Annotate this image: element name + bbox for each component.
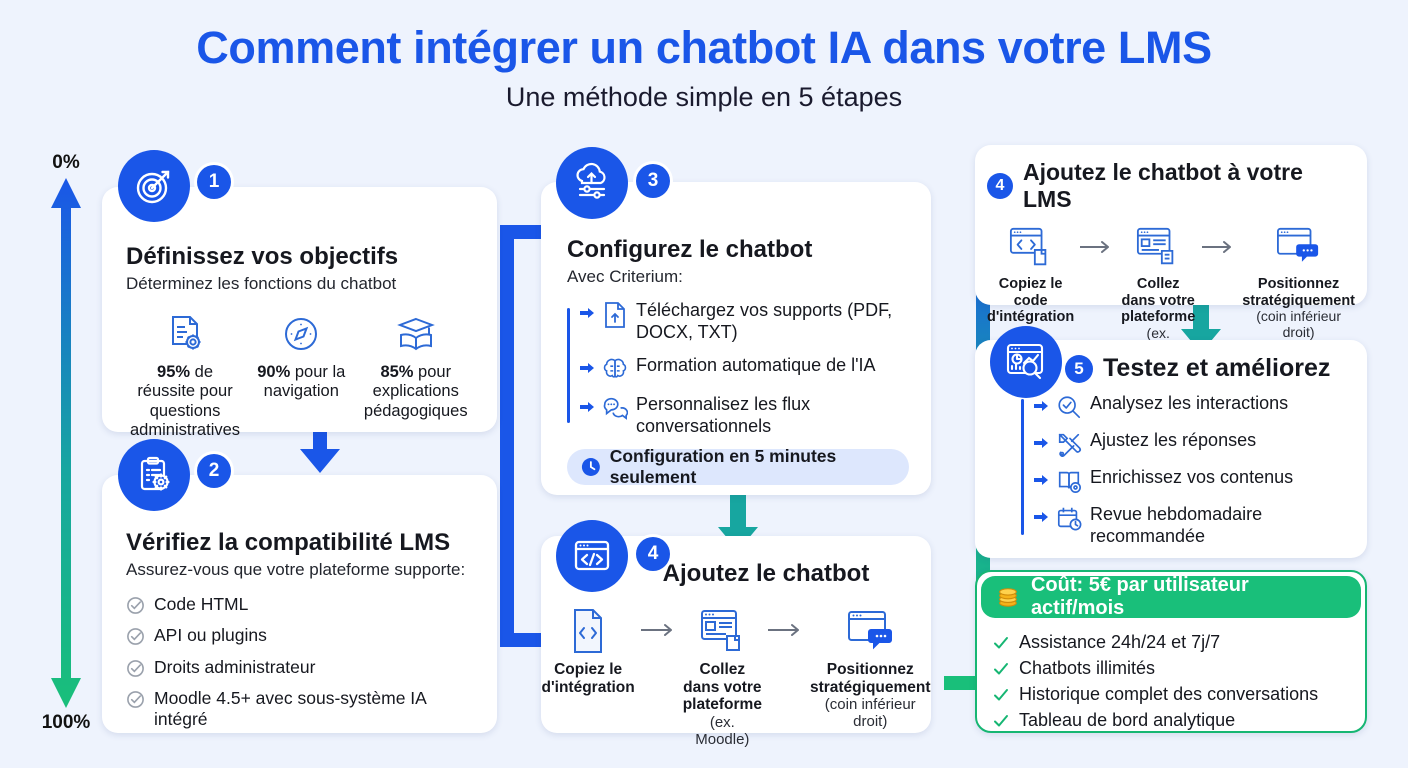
step-item: Positionnez stratégiquement (coin inféri…	[1242, 223, 1355, 341]
arrow-right-icon	[580, 307, 594, 319]
check-circle-icon	[126, 690, 145, 709]
step4-bottom-steps: Copiez le d'intégration	[559, 604, 913, 748]
step3-subtitle: Avec Criterium:	[567, 267, 909, 287]
arrow-right-icon	[762, 604, 810, 656]
list-item-label: Ajustez les réponses	[1090, 430, 1256, 452]
step3-number-badge: 3	[636, 164, 670, 198]
axis-label-bottom: 100%	[36, 712, 96, 734]
list-item: Personnalisez les flux conversationnels	[580, 394, 909, 437]
stat-item: 95% de réussite pour questions administr…	[126, 310, 244, 441]
page-title: Comment intégrer un chatbot IA dans votr…	[0, 22, 1408, 74]
step2-checklist: Code HTML API ou plugins Droits administ…	[126, 594, 473, 731]
step1-number-badge: 1	[197, 165, 231, 199]
step-item: Collez dans votre plateforme (ex. Moodle…	[683, 604, 762, 748]
step1-title: Définissez vos objectifs	[126, 243, 473, 271]
list-item: Analysez les interactions	[1034, 393, 1351, 420]
search-check-icon	[1056, 394, 1082, 420]
list-item: Assistance 24h/24 et 7j/7	[993, 632, 1349, 653]
step-item: Copiez le d'intégration	[541, 604, 634, 696]
paste-window-icon	[1120, 223, 1196, 271]
list-item: API ou plugins	[126, 625, 473, 646]
axis-label-top: 0%	[36, 152, 96, 174]
step2-title: Vérifiez la compatibilité LMS	[126, 529, 473, 557]
step-item: Positionnez stratégiquement (coin inféri…	[810, 604, 931, 731]
chat-window-icon	[1242, 223, 1355, 271]
cloud-upload-settings-icon	[556, 147, 628, 219]
list-item-label: API ou plugins	[154, 625, 267, 646]
step4-bottom-number-badge: 4	[636, 537, 670, 571]
arrow-right-icon	[1034, 474, 1048, 486]
step5-list: Analysez les interactions Ajustez les ré…	[991, 393, 1351, 547]
code-window-copy-icon	[987, 223, 1074, 271]
check-icon	[993, 635, 1009, 651]
step3-duration-pill: Configuration en 5 minutes seulement	[567, 449, 909, 485]
list-item: Historique complet des conversations	[993, 684, 1349, 705]
step-note: (coin inférieur droit)	[810, 696, 931, 730]
progress-axis: 0% 100%	[36, 152, 96, 734]
card-step3[interactable]: Configurez le chatbot Avec Criterium: Té…	[541, 182, 931, 495]
list-spine	[567, 308, 570, 423]
card-step1[interactable]: Définissez vos objectifs Déterminez les …	[102, 187, 497, 432]
stat-item: 90% pour la navigation	[244, 310, 358, 441]
step2-subtitle: Assurez-vous que votre plateforme suppor…	[126, 560, 473, 580]
list-item-label: Historique complet des conversations	[1019, 684, 1318, 705]
cost-feature-list: Assistance 24h/24 et 7j/7 Chatbots illim…	[977, 622, 1365, 733]
document-gear-icon	[130, 310, 240, 358]
step4-top-title: Ajoutez le chatbot à votre LMS	[1023, 159, 1355, 213]
code-window-icon	[556, 520, 628, 592]
step-note: (coin inférieur droit)	[1242, 309, 1355, 341]
clipboard-gear-icon	[118, 439, 190, 511]
check-circle-icon	[126, 596, 145, 615]
gradient-double-arrow-icon	[49, 178, 83, 708]
check-icon	[993, 713, 1009, 729]
cost-heading: Coût: 5€ par utilisateur actif/mois	[1031, 574, 1347, 620]
check-icon	[993, 687, 1009, 703]
arrow-right-icon	[1196, 223, 1242, 271]
step-title: Collez dans votre plateforme	[1120, 276, 1196, 326]
step-note: (ex. Moodle)	[683, 714, 762, 748]
arrow-right-icon	[635, 604, 683, 656]
target-arrow-icon	[118, 150, 190, 222]
list-item-label: Enrichissez vos contenus	[1090, 467, 1293, 489]
step3-title: Configurez le chatbot	[567, 236, 909, 264]
check-icon	[993, 661, 1009, 677]
list-item: Droits administrateur	[126, 657, 473, 678]
card-step4-top[interactable]: 4 Ajoutez le chatbot à votre LMS	[975, 145, 1367, 305]
list-item-label: Code HTML	[154, 594, 248, 615]
stat-text: 90% pour la navigation	[248, 363, 354, 402]
step5-number-badge: 5	[1065, 355, 1093, 383]
stat-item: 85% pour explications pédagogiques	[359, 310, 473, 441]
list-item: Moodle 4.5+ avec sous-système IA intégré	[126, 688, 473, 731]
list-item-label: Téléchargez vos supports (PDF, DOCX, TXT…	[636, 300, 909, 343]
step1-stats: 95% de réussite pour questions administr…	[126, 310, 473, 441]
list-item-label: Revue hebdomadaire recommandée	[1090, 504, 1351, 547]
step3-list: Téléchargez vos supports (PDF, DOCX, TXT…	[567, 300, 909, 437]
list-item-label: Assistance 24h/24 et 7j/7	[1019, 632, 1220, 653]
list-item: Revue hebdomadaire recommandée	[1034, 504, 1351, 547]
list-item: Téléchargez vos supports (PDF, DOCX, TXT…	[580, 300, 909, 343]
step-title: Copiez le code d'intégration	[987, 276, 1074, 326]
step-title: Copiez le d'intégration	[541, 661, 634, 696]
graduation-book-icon	[363, 310, 469, 358]
stat-text: 85% pour explications pédagogiques	[363, 363, 469, 421]
list-item: Enrichissez vos contenus	[1034, 467, 1351, 494]
step-item: Copiez le code d'intégration	[987, 223, 1074, 326]
arrow-right-icon	[1034, 511, 1048, 523]
brain-icon	[602, 356, 628, 382]
card-cost[interactable]: Coût: 5€ par utilisateur actif/mois Assi…	[975, 570, 1367, 733]
arrow-right-icon	[580, 401, 594, 413]
book-gear-icon	[1056, 468, 1082, 494]
list-item-label: Moodle 4.5+ avec sous-système IA intégré	[154, 688, 454, 731]
chat-bubbles-icon	[602, 395, 628, 421]
list-spine	[1021, 399, 1024, 535]
arrow-right-icon	[580, 362, 594, 374]
step5-title: Testez et améliorez	[1103, 354, 1330, 383]
card-step2[interactable]: Vérifiez la compatibilité LMS Assurez-vo…	[102, 475, 497, 733]
step-title: Collez dans votre plateforme	[683, 661, 762, 714]
pill-label: Configuration en 5 minutes seulement	[610, 446, 895, 488]
code-file-icon	[541, 604, 634, 656]
list-item: Ajustez les réponses	[1034, 430, 1351, 457]
step-title: Positionnez stratégiquement	[1242, 276, 1355, 309]
list-item-label: Formation automatique de l'IA	[636, 355, 876, 377]
list-item: Formation automatique de l'IA	[580, 355, 909, 382]
coins-icon	[995, 584, 1021, 610]
tools-icon	[1056, 431, 1082, 457]
calendar-clock-icon	[1056, 505, 1082, 531]
step1-subtitle: Déterminez les fonctions du chatbot	[126, 274, 473, 294]
step4-top-number-badge: 4	[987, 173, 1013, 199]
step2-number-badge: 2	[197, 454, 231, 488]
chat-window-icon	[810, 604, 931, 656]
cost-header: Coût: 5€ par utilisateur actif/mois	[981, 576, 1361, 618]
page-subtitle: Une méthode simple en 5 étapes	[0, 82, 1408, 113]
file-upload-icon	[602, 301, 628, 329]
check-circle-icon	[126, 627, 145, 646]
compass-icon	[248, 310, 354, 358]
dashboard-search-icon	[990, 326, 1062, 398]
stat-text: 95% de réussite pour questions administr…	[130, 363, 240, 441]
arrow-right-icon	[1034, 437, 1048, 449]
check-circle-icon	[126, 659, 145, 678]
list-item: Code HTML	[126, 594, 473, 615]
step-title: Positionnez stratégiquement	[810, 661, 931, 696]
list-item-label: Droits administrateur	[154, 657, 315, 678]
list-item-label: Tableau de bord analytique	[1019, 710, 1235, 731]
list-item-label: Personnalisez les flux conversationnels	[636, 394, 896, 437]
list-item: Chatbots illimités	[993, 658, 1349, 679]
list-item: Tableau de bord analytique	[993, 710, 1349, 731]
paste-window-icon	[683, 604, 762, 656]
arrow-right-icon	[1034, 400, 1048, 412]
list-item-label: Analysez les interactions	[1090, 393, 1288, 415]
clock-icon	[581, 456, 601, 478]
list-item-label: Chatbots illimités	[1019, 658, 1155, 679]
arrow-right-icon	[1074, 223, 1120, 271]
step-item: Collez dans votre plateforme (ex. Moodle…	[1120, 223, 1196, 357]
